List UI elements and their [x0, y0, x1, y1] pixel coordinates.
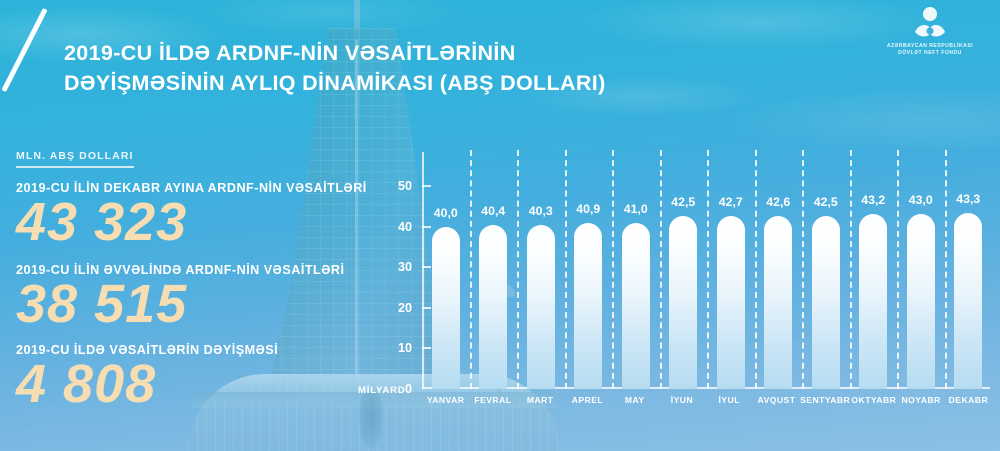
- monthly-balance-bar-chart: 01020304050 MİLYARD 40,040,440,340,941,0…: [360, 140, 992, 425]
- stat-block-december-balance: 2019-CU İLİN DEKABR AYINA ARDNF-NİN VƏSA…: [16, 181, 416, 251]
- bar-cell[interactable]: 43,2: [850, 140, 898, 389]
- unit-label: MLN. ABŞ DOLLARI: [16, 150, 134, 168]
- bar-value-label: 42,7: [719, 195, 743, 209]
- bar[interactable]: [574, 223, 602, 389]
- stat-value: 43 323: [16, 193, 416, 251]
- month-label: MART: [517, 395, 564, 417]
- bar[interactable]: [717, 216, 745, 389]
- bar-value-label: 41,0: [624, 202, 648, 216]
- month-label: APREL: [564, 395, 611, 417]
- bar-cell[interactable]: 43,0: [897, 140, 945, 389]
- logo-text: AZƏRBAYCAN RESPUBLİKASI DÖVLƏT NEFT FOND…: [876, 43, 984, 57]
- sofaz-emblem-icon: [911, 6, 949, 40]
- month-label: DEKABR: [945, 395, 992, 417]
- bar[interactable]: [479, 225, 507, 389]
- stat-value: 4 808: [16, 355, 416, 413]
- logo-text-line2: DÖVLƏT NEFT FONDU: [876, 50, 984, 57]
- y-axis-tick-label: 50: [360, 179, 422, 193]
- bar[interactable]: [907, 214, 935, 389]
- month-label: İYUN: [658, 395, 705, 417]
- bar-value-label: 42,5: [814, 195, 838, 209]
- month-label: OKTYABR: [850, 395, 897, 417]
- bar-cell[interactable]: 43,3: [945, 140, 993, 389]
- month-label: FEVRAL: [469, 395, 516, 417]
- month-label: MAY: [611, 395, 658, 417]
- month-label: SENTYABR: [800, 395, 850, 417]
- bar-cell[interactable]: 40,9: [565, 140, 613, 389]
- sofaz-logo: AZƏRBAYCAN RESPUBLİKASI DÖVLƏT NEFT FOND…: [876, 6, 984, 57]
- bar-value-label: 43,0: [909, 193, 933, 207]
- bar-cell[interactable]: 41,0: [612, 140, 660, 389]
- page-title-line1: 2019-CU İLDƏ ARDNF-NİN VƏSAİTLƏRİNİN: [64, 41, 516, 65]
- bar[interactable]: [812, 216, 840, 389]
- month-label: AVQUST: [753, 395, 800, 417]
- bar[interactable]: [859, 214, 887, 389]
- y-axis-tick-label: 20: [360, 301, 422, 315]
- bar-cell[interactable]: 42,6: [755, 140, 803, 389]
- x-axis-month-labels: YANVARFEVRALMARTAPRELMAYİYUNİYULAVQUSTSE…: [422, 395, 992, 417]
- bar-value-label: 43,3: [956, 192, 980, 206]
- bar-cell[interactable]: 40,4: [470, 140, 518, 389]
- stat-value: 38 515: [16, 275, 416, 333]
- y-axis-tick-label: 10: [360, 341, 422, 355]
- bar[interactable]: [764, 216, 792, 389]
- bar[interactable]: [527, 225, 555, 389]
- page-title-line2: DƏYİŞMƏSİNİN AYLIQ DİNAMİKASI (ABŞ DOLLA…: [64, 68, 684, 98]
- logo-text-line1: AZƏRBAYCAN RESPUBLİKASI: [876, 43, 984, 50]
- stat-block-net-change: 2019-CU İLDƏ VƏSAİTLƏRİN DƏYİŞMƏSİ 4 808: [16, 343, 416, 413]
- month-label: NOYABR: [897, 395, 944, 417]
- plot-area: 40,040,440,340,941,042,542,742,642,543,2…: [422, 140, 992, 389]
- bar-cell[interactable]: 42,5: [802, 140, 850, 389]
- bar-value-label: 40,4: [481, 204, 505, 218]
- bar-cell[interactable]: 42,7: [707, 140, 755, 389]
- bar-value-label: 40,9: [576, 202, 600, 216]
- month-label: YANVAR: [422, 395, 469, 417]
- bar-value-label: 40,0: [434, 206, 458, 220]
- bar[interactable]: [622, 223, 650, 389]
- title-slash-accent: [1, 8, 47, 92]
- bar-cell[interactable]: 40,0: [422, 140, 470, 389]
- infographic-poster: 2019-CU İLDƏ ARDNF-NİN VƏSAİTLƏRİNİN DƏY…: [0, 0, 1000, 451]
- bar-value-label: 42,6: [766, 195, 790, 209]
- bar-cell[interactable]: 40,3: [517, 140, 565, 389]
- y-axis-tick-label: 40: [360, 220, 422, 234]
- page-title: 2019-CU İLDƏ ARDNF-NİN VƏSAİTLƏRİNİN DƏY…: [64, 38, 684, 98]
- bar-value-label: 43,2: [861, 193, 885, 207]
- bar[interactable]: [954, 213, 982, 389]
- bar-value-label: 40,3: [529, 204, 553, 218]
- month-label: İYUL: [706, 395, 753, 417]
- bar-cell[interactable]: 42,5: [660, 140, 708, 389]
- y-axis-tick-label: 30: [360, 260, 422, 274]
- stat-block-opening-balance: 2019-CU İLİN ƏVVƏLİNDƏ ARDNF-NİN VƏSAİTL…: [16, 263, 416, 333]
- y-axis-unit-label: MİLYARD: [358, 385, 406, 396]
- bar-series: 40,040,440,340,941,042,542,742,642,543,2…: [422, 140, 992, 389]
- stats-panel: MLN. ABŞ DOLLARI 2019-CU İLİN DEKABR AYI…: [16, 146, 416, 413]
- bar[interactable]: [432, 227, 460, 389]
- bar[interactable]: [669, 216, 697, 389]
- bar-value-label: 42,5: [671, 195, 695, 209]
